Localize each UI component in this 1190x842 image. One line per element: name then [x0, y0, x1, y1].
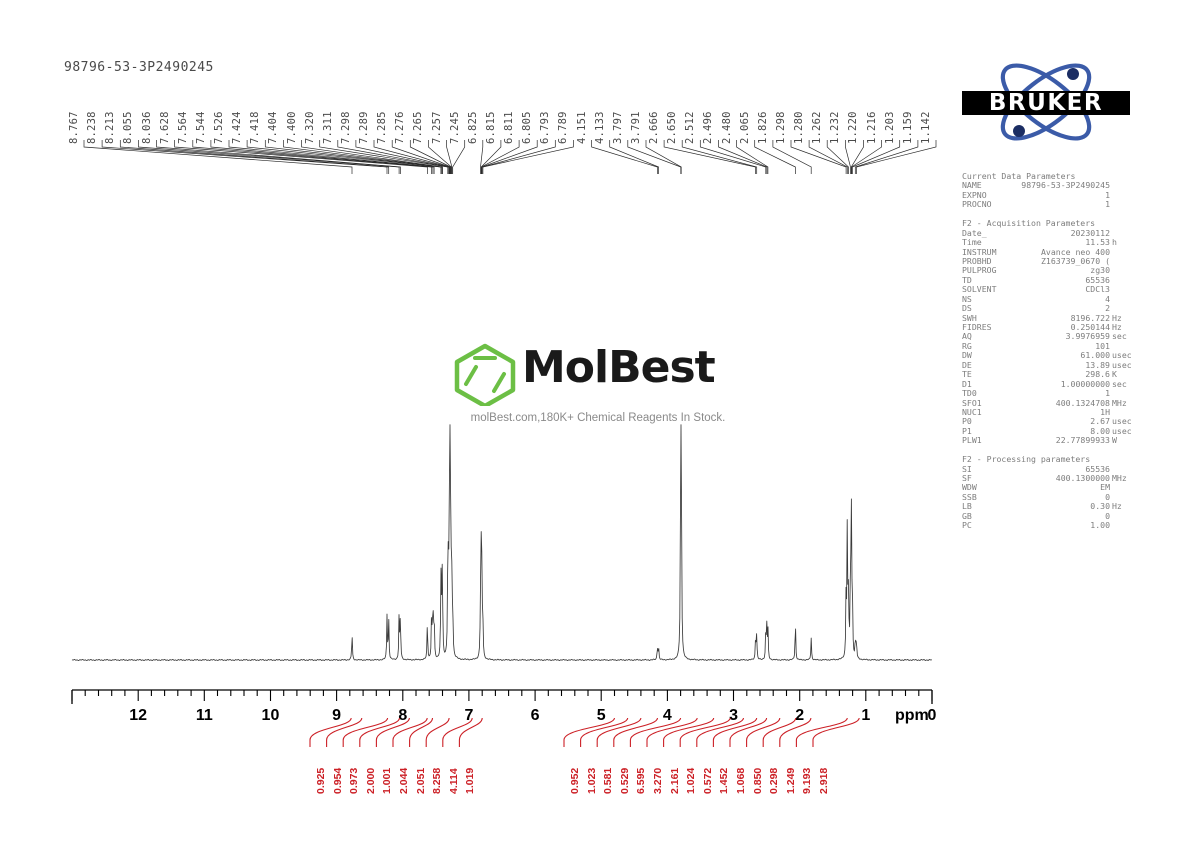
peak-leader-line — [719, 140, 767, 174]
bruker-wordmark: BRUKER — [989, 90, 1103, 116]
bruker-orbit-dot-bottom — [1013, 125, 1025, 137]
integral-value-label: 2.918 — [818, 768, 830, 794]
peak-leader-line — [646, 140, 681, 174]
integral-bracket — [597, 718, 641, 747]
benzene-hexagon-icon — [449, 342, 521, 406]
peak-leader-line — [755, 140, 796, 174]
peak-leader-line — [193, 140, 432, 174]
integral-value-label: 2.044 — [398, 768, 410, 794]
parameter-value: 1 — [962, 200, 1110, 209]
integral-value-label: 1.019 — [464, 768, 476, 794]
parameter-value: 22.77899933 — [962, 436, 1110, 445]
peak-leader-line — [138, 140, 399, 174]
bruker-logo: BRUKER — [958, 52, 1133, 157]
peak-leader-line — [773, 140, 811, 174]
integral-value-label: 4.114 — [448, 768, 460, 794]
integral-bracket — [310, 718, 351, 747]
integral-value-label: 0.925 — [315, 768, 327, 794]
parameter-value: 4 — [962, 295, 1110, 304]
integral-value-label: 0.954 — [332, 768, 344, 794]
integral-brackets — [0, 718, 1190, 748]
integral-value-label: 2.051 — [415, 768, 427, 794]
integral-bracket — [459, 718, 482, 747]
peak-leader-line — [857, 140, 937, 174]
integral-value-label: 9.193 — [801, 768, 813, 794]
peak-leader-line — [453, 140, 465, 174]
integral-value-label: 2.000 — [365, 768, 377, 794]
peak-leader-line — [628, 140, 681, 174]
peak-leader-line — [809, 140, 847, 174]
integral-bracket — [410, 718, 433, 747]
parameter-value: 1.00000000 — [962, 380, 1110, 389]
parameter-value: 2.67 — [962, 417, 1110, 426]
integral-value-label: 0.298 — [768, 768, 780, 794]
molbest-tagline: molBest.com,180K+ Chemical Reagents In S… — [448, 412, 748, 424]
peak-leader-line — [410, 140, 450, 174]
parameter-value: CDCl3 — [962, 285, 1110, 294]
bruker-orbit-dot-top — [1067, 68, 1079, 80]
peak-leader-line — [682, 140, 757, 174]
peak-leader-line — [851, 140, 863, 174]
integral-value-label: 0.952 — [569, 768, 581, 794]
integral-value-label: 8.258 — [431, 768, 443, 794]
integral-value-label: 1.068 — [735, 768, 747, 794]
integral-bracket — [713, 718, 756, 747]
parameter-row: PROCNO 1 — [962, 200, 1132, 209]
bruker-wordmark-block: BRUKER — [962, 90, 1130, 116]
parameter-row: PC 1.00 — [962, 521, 1132, 530]
integral-value-label: 0.581 — [602, 768, 614, 794]
spectrum-line — [72, 425, 932, 661]
molbest-watermark: MolBest molBest.com,180K+ Chemical Reage… — [447, 340, 747, 435]
parameter-row: PLW1 22.77899933 W — [962, 436, 1132, 445]
integral-bracket — [813, 718, 859, 747]
peak-leader-line — [610, 140, 659, 174]
integral-value-label: 1.024 — [685, 768, 697, 794]
integral-value-label: 1.001 — [381, 768, 393, 794]
integral-bracket — [327, 718, 362, 747]
parameter-value: 1H — [962, 408, 1110, 417]
parameter-unit: MHz — [1112, 399, 1127, 408]
integral-bracket — [730, 718, 767, 747]
parameter-value: 400.1324708 — [962, 399, 1110, 408]
parameter-unit: MHz — [1112, 474, 1127, 483]
peak-leader-line — [283, 140, 442, 174]
integral-curves-area: 0.9250.9540.9732.0001.0012.0442.0518.258… — [0, 718, 1190, 818]
peak-leader-line — [852, 140, 899, 174]
integral-value-label: 0.973 — [348, 768, 360, 794]
axis-ruler — [0, 688, 1190, 708]
parameter-value: 3.9976959 — [962, 332, 1110, 341]
parameter-value: 400.1300000 — [962, 474, 1110, 483]
peak-leader-line — [855, 140, 918, 174]
parameter-value: 0.30 — [962, 502, 1110, 511]
integral-value-label: 3.270 — [652, 768, 664, 794]
peak-leader-line — [483, 140, 574, 174]
parameter-unit: sec — [1112, 380, 1127, 389]
peak-label-strip: 8.7678.2388.2138.0558.0367.6287.5647.544… — [70, 82, 940, 144]
peak-leader-line — [175, 140, 428, 174]
integral-value-label: 0.529 — [619, 768, 631, 794]
peak-leader-line — [737, 140, 768, 174]
parameter-value: 1.00 — [962, 521, 1110, 530]
peak-leader-line — [265, 140, 441, 174]
parameter-value: EM — [962, 483, 1110, 492]
sample-title: 98796-53-3P2490245 — [64, 60, 214, 75]
parameter-unit: h — [1112, 238, 1117, 247]
peak-leader-line — [852, 140, 882, 174]
peak-leader-line — [481, 140, 501, 174]
acquisition-parameter-panel: Current Data Parameters NAME 98796-53-3P… — [962, 172, 1132, 531]
peak-leader-line — [120, 140, 388, 174]
parameter-value: 0 — [962, 512, 1110, 521]
integral-value-label: 6.595 — [635, 768, 647, 794]
integral-value-label: 2.161 — [669, 768, 681, 794]
peak-leader-line — [481, 140, 519, 174]
parameter-value: 0 — [962, 493, 1110, 502]
integral-value-label: 1.452 — [718, 768, 730, 794]
parameter-unit: W — [1112, 436, 1117, 445]
parameter-unit: Hz — [1112, 502, 1122, 511]
parameter-unit: sec — [1112, 332, 1127, 341]
integral-value-label: 0.572 — [702, 768, 714, 794]
peak-leader-line — [592, 140, 658, 174]
integral-value-label: 1.249 — [785, 768, 797, 794]
molbest-wordmark: MolBest — [522, 342, 715, 393]
integral-value-label: 1.023 — [586, 768, 598, 794]
integral-value-label: 0.850 — [752, 768, 764, 794]
